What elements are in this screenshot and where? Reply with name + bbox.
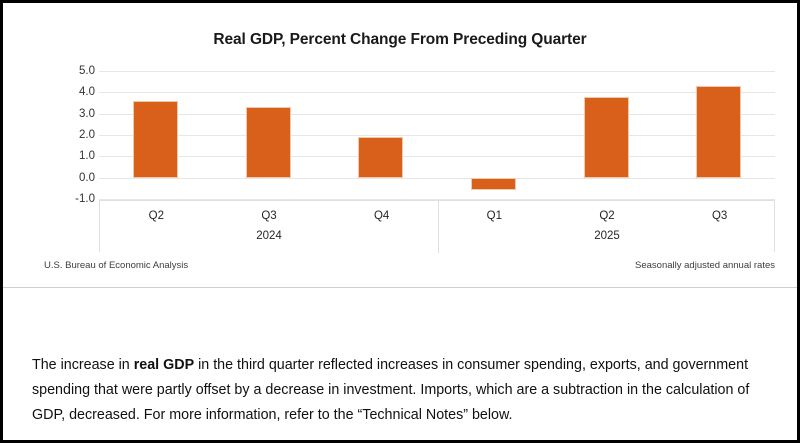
paragraph-emphasis: real GDP: [134, 357, 194, 373]
gridline: [99, 71, 775, 72]
x-axis-quarter-label: Q3: [229, 210, 309, 222]
y-axis-tick-labels: 5.04.03.02.01.00.0-1.0: [47, 71, 95, 199]
y-axis-tick-label: 4.0: [51, 86, 95, 98]
chart-title: Real GDP, Percent Change From Preceding …: [3, 31, 797, 49]
x-axis-year-label: 2024: [189, 230, 349, 242]
x-axis-year-label: 2025: [527, 230, 687, 242]
paragraph-part-1: The increase in: [32, 357, 134, 373]
x-axis-label-band: Q2Q3Q4Q1Q2Q320242025: [99, 200, 775, 252]
x-axis-quarter-label: Q3: [680, 210, 760, 222]
y-axis-tick-label: 3.0: [51, 108, 95, 120]
x-axis-quarter-label: Q2: [567, 210, 647, 222]
screenshot-root: Real GDP, Percent Change From Preceding …: [0, 0, 800, 443]
y-axis-tick-label: 2.0: [51, 129, 95, 141]
year-group-divider: [438, 201, 439, 253]
gridline: [99, 92, 775, 93]
gridline: [99, 178, 775, 179]
gdp-chart-card: Real GDP, Percent Change From Preceding …: [3, 3, 797, 288]
y-axis-tick-label: -1.0: [51, 193, 95, 205]
bar[interactable]: [696, 86, 741, 178]
y-axis-tick-label: 0.0: [51, 172, 95, 184]
gridline: [99, 156, 775, 157]
rate-note: Seasonally adjusted annual rates: [635, 260, 775, 271]
x-axis-quarter-label: Q4: [342, 210, 422, 222]
bar[interactable]: [471, 178, 516, 191]
bar[interactable]: [246, 107, 291, 177]
gridline: [99, 135, 775, 136]
x-axis-quarter-label: Q2: [116, 210, 196, 222]
bar[interactable]: [133, 101, 178, 178]
source-note: U.S. Bureau of Economic Analysis: [44, 260, 188, 271]
chart-plot-area: [99, 71, 775, 199]
summary-paragraph: The increase in real GDP in the third qu…: [32, 353, 780, 428]
y-axis-tick-label: 1.0: [51, 150, 95, 162]
y-axis-tick-label: 5.0: [51, 65, 95, 77]
bar[interactable]: [358, 137, 403, 178]
bar[interactable]: [584, 97, 629, 178]
x-axis-quarter-label: Q1: [454, 210, 534, 222]
gridline: [99, 114, 775, 115]
